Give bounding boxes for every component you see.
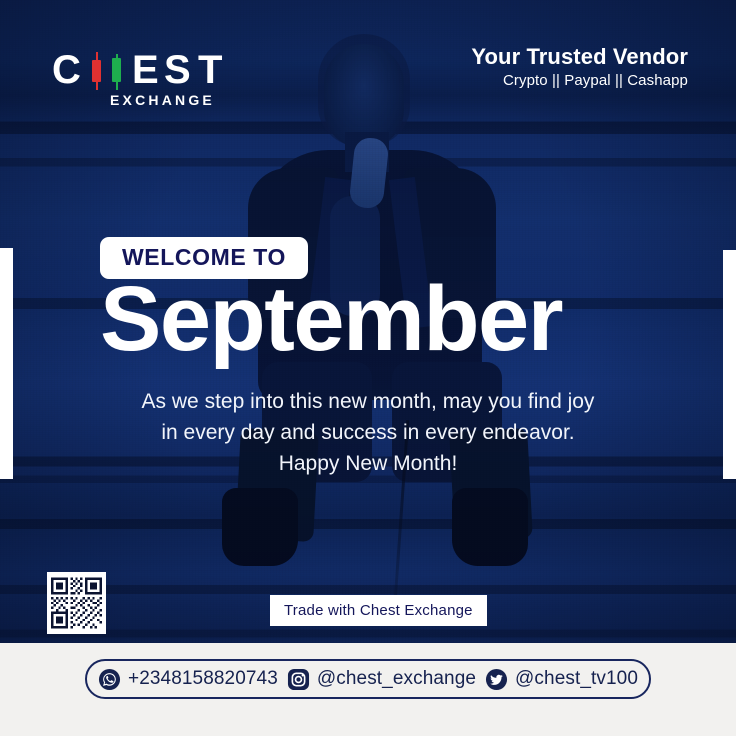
vendor-tagline: Your Trusted Vendor Crypto || Paypal || … xyxy=(471,44,688,90)
instagram-handle: @chest_exchange xyxy=(317,668,476,690)
qr-code-image xyxy=(51,576,102,630)
whatsapp-number: +2348158820743 xyxy=(128,668,278,690)
logo-letter-e: E xyxy=(132,50,159,90)
logo-letter-c: C xyxy=(52,50,81,90)
whatsapp-icon xyxy=(98,668,121,691)
logo-wordmark: C E S T xyxy=(52,50,252,90)
left-accent-bar xyxy=(0,248,13,479)
logo-subtitle: EXCHANGE xyxy=(110,92,215,108)
contact-pill: +2348158820743 @chest_exchange @chest_tv… xyxy=(85,659,651,699)
twitter-icon xyxy=(485,668,508,691)
logo-letter-t: T xyxy=(198,50,222,90)
trade-cta-tag[interactable]: Trade with Chest Exchange xyxy=(270,595,487,626)
greeting-body-text: As we step into this new month, may you … xyxy=(133,386,603,479)
poster-canvas: C E S T EXCHANGE Your Trusted Vendor Cry… xyxy=(0,0,736,736)
logo-letter-s: S xyxy=(164,50,191,90)
contact-twitter[interactable]: @chest_tv100 xyxy=(485,668,638,691)
footer-bar: +2348158820743 @chest_exchange @chest_tv… xyxy=(0,643,736,736)
instagram-icon xyxy=(287,668,310,691)
tagline-payment-methods: Crypto || Paypal || Cashapp xyxy=(471,71,688,90)
qr-code[interactable] xyxy=(47,572,106,634)
month-headline: September xyxy=(100,271,562,367)
right-accent-bar xyxy=(723,250,736,479)
candlestick-h-icon xyxy=(92,52,132,92)
chest-exchange-logo: C E S T EXCHANGE xyxy=(52,50,252,110)
contact-instagram[interactable]: @chest_exchange xyxy=(287,668,476,691)
tagline-headline: Your Trusted Vendor xyxy=(471,44,688,69)
twitter-handle: @chest_tv100 xyxy=(515,668,638,690)
contact-whatsapp[interactable]: +2348158820743 xyxy=(98,668,278,691)
